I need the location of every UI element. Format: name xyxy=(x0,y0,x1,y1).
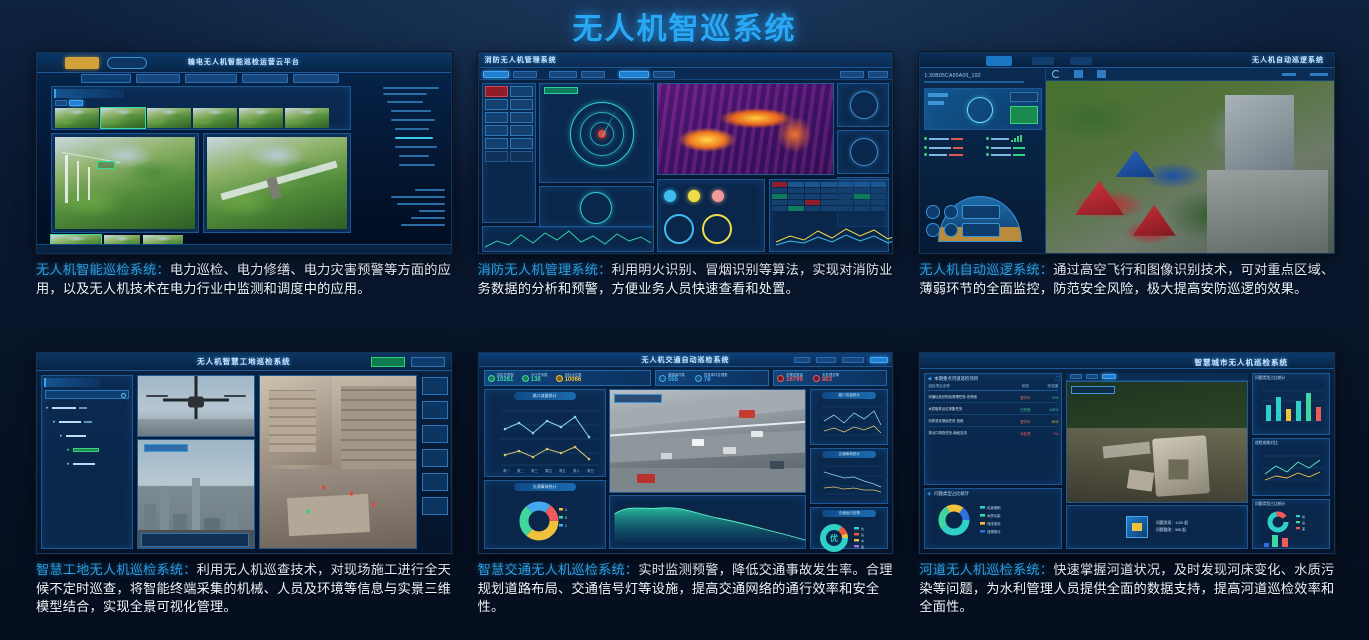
tree-item[interactable]: ▸ xyxy=(53,419,128,425)
tab-1[interactable] xyxy=(81,74,131,83)
kpi-label: 巡检总里程 xyxy=(497,373,514,377)
main-viewer-left[interactable] xyxy=(51,133,199,233)
accident-donut-chart: A B C xyxy=(517,495,573,547)
caption-river-patrol: 河道无人机巡检系统：快速掌握河道状况，及时发现河床变化、水质污染等问题，为水利管… xyxy=(919,561,1335,617)
svg-text:周一: 周一 xyxy=(503,468,510,473)
cell-progress: 45% xyxy=(1036,420,1058,424)
kpi-value: 78 xyxy=(704,377,728,384)
flow-chart-panel: 路口流量统计 周一周二周三 xyxy=(484,389,606,477)
alarm-table-panel[interactable] xyxy=(482,83,536,223)
kpi-label: 今日任务数 xyxy=(531,373,548,377)
cell-status: 进行中 xyxy=(1014,395,1036,400)
right-stats xyxy=(383,189,445,231)
alarm-cell[interactable] xyxy=(485,151,508,162)
expand-icon[interactable]: ⛶ xyxy=(1056,376,1060,382)
svg-text:良: 良 xyxy=(1302,520,1305,525)
layout-icon[interactable] xyxy=(1097,70,1106,78)
tree-list[interactable]: ▸ ▸ ▸ xyxy=(46,405,128,467)
kpi-value: 138 xyxy=(531,377,548,384)
svg-text:中: 中 xyxy=(861,538,864,543)
tool-button-layer[interactable] xyxy=(422,401,448,419)
alarm-cell[interactable] xyxy=(510,125,533,136)
nav-tab-active[interactable] xyxy=(870,357,888,363)
trend-chart xyxy=(774,224,894,248)
inspection-list-panel[interactable]: ◀ 本期重点河道巡检项目 ⛶ 巡检项目名称 状态 完成度 河道垃圾识别及清理任务… xyxy=(924,373,1062,485)
screenshot-smart-traffic[interactable]: 无人机交通自动巡检系统 xyxy=(478,352,894,554)
card-smart-traffic: 无人机交通自动巡检系统 xyxy=(478,352,894,640)
status-badge xyxy=(371,357,405,367)
caption-smart-site: 智慧工地无人机巡检系统：利用无人机巡查技术，对现场施工进行全天候不定时巡查，将智… xyxy=(36,561,452,617)
card-grid: 输电无人机智能巡检运营云平台 xyxy=(36,52,1335,640)
screenshot-river-patrol[interactable]: 智慧城市无人机巡检系统 ◀ 本期重点河道巡检项目 ⛶ 巡检项目名称 状态 完成度 xyxy=(919,352,1335,554)
grid-icon[interactable] xyxy=(1074,70,1083,78)
problem-type-donut-chart: 垃圾堆积 水质污染 河床变化 违规排污 xyxy=(928,500,1056,540)
alarm-cell[interactable] xyxy=(510,138,533,149)
right-panel-title: 巡检成效对比 xyxy=(1255,441,1327,446)
control-button-record[interactable] xyxy=(926,223,940,237)
chart-panel-title: 问题类型占比统计 xyxy=(934,491,969,497)
right-line-chart-2 xyxy=(813,460,885,502)
project-tree[interactable] xyxy=(383,87,445,173)
status-item xyxy=(924,153,980,156)
toolbar-button-list[interactable] xyxy=(1070,57,1092,65)
list-panel-title: 本期重点河道巡检项目 xyxy=(934,376,978,382)
control-button-hover[interactable] xyxy=(944,205,958,219)
thumbnail[interactable] xyxy=(193,108,237,128)
globe-status xyxy=(1010,106,1038,124)
tree-panel-title xyxy=(44,378,100,387)
speed-area-chart xyxy=(612,498,808,546)
tree-item[interactable]: ▸ xyxy=(46,405,128,411)
svg-text:周日: 周日 xyxy=(587,468,594,473)
chevron-right-icon[interactable]: ▸ xyxy=(60,433,63,439)
right-chart-panel-3: 交通运行态势 优 优 良 中 差 xyxy=(810,507,888,549)
alarm-cell[interactable] xyxy=(510,86,533,97)
donut-center-label: 优 xyxy=(830,533,838,543)
legend-swatch-fire xyxy=(664,190,676,202)
page-title: 无人机智巡系统 xyxy=(0,4,1369,48)
alarm-cell[interactable] xyxy=(510,151,533,162)
kpi-group-blue: 道路事件数 555 异常事件处理数 78 xyxy=(655,370,769,386)
tab-2[interactable] xyxy=(136,74,180,83)
status-item xyxy=(986,146,1042,149)
caption-lead: 消防无人机管理系统： xyxy=(478,262,612,277)
cell-progress: 0% xyxy=(1036,432,1058,436)
panel-title-defect xyxy=(54,89,124,98)
construction-site-view[interactable] xyxy=(259,375,417,549)
tool-button-measure[interactable] xyxy=(422,377,448,395)
svg-text:周三: 周三 xyxy=(531,468,538,473)
alarm-cell[interactable] xyxy=(510,112,533,123)
cell-status: 进行中 xyxy=(1014,419,1036,424)
svg-text:违规排污: 违规排污 xyxy=(987,529,1001,534)
header-nav[interactable] xyxy=(794,357,888,363)
caption-lead: 无人机智能巡检系统： xyxy=(36,262,170,277)
bottom-data-table[interactable] xyxy=(769,179,890,252)
legend-swatch-temp xyxy=(712,190,724,202)
card-auto-patrol: 无人机自动巡逻系统 1:30B05CA00A00_192 xyxy=(919,52,1335,352)
control-button-cruise[interactable] xyxy=(962,205,1000,219)
dashboard-title: 无人机智慧工地巡检系统 xyxy=(197,356,291,367)
thumbnail[interactable] xyxy=(55,108,99,128)
globe-badge xyxy=(1010,92,1038,102)
caption-auto-patrol: 无人机自动巡逻系统：通过高空飞行和图像识别技术，可对重点区域、薄弱环节的全面监控… xyxy=(919,261,1335,298)
toolbar-button-map[interactable] xyxy=(1032,57,1054,65)
kpi-value: 10261 xyxy=(497,377,514,384)
kpi-card: 巡检点位数 10066 xyxy=(556,373,582,384)
settings-icon[interactable] xyxy=(1282,73,1296,76)
flow-line-chart: 周一周二周三 周四周五周六周日 xyxy=(487,403,603,475)
kpi-value: 16799 xyxy=(786,377,803,384)
hex-tab-task[interactable] xyxy=(107,57,147,69)
nav-tab-alarm[interactable] xyxy=(619,71,649,78)
nav-tab[interactable] xyxy=(794,357,810,363)
status-bar xyxy=(37,244,451,253)
tab-4[interactable] xyxy=(242,74,288,83)
caption-lead: 河道无人机巡检系统： xyxy=(919,562,1053,577)
right-panel-top: 问题类型占比统计 xyxy=(1252,373,1330,435)
kpi-icon xyxy=(488,375,495,382)
caption-lead: 无人机自动巡逻系统： xyxy=(919,262,1053,277)
kpi-label: 异常事件处理数 xyxy=(704,373,728,377)
kpi-value: 803 xyxy=(822,377,839,384)
nav-tab-stats[interactable] xyxy=(653,71,675,78)
kpi-icon xyxy=(556,375,563,382)
cell-name: 水质取样点位采集任务 xyxy=(928,407,1014,412)
nav-bar[interactable] xyxy=(479,69,893,80)
tab-strip[interactable] xyxy=(81,74,447,84)
card-river-patrol: 智慧城市无人机巡检系统 ◀ 本期重点河道巡检项目 ⛶ 巡检项目名称 状态 完成度 xyxy=(919,352,1335,640)
traffic-video-view[interactable] xyxy=(609,389,807,493)
accident-pie-panel: 交通事故统计 A B C xyxy=(484,480,606,549)
chevron-right-icon[interactable]: ▸ xyxy=(67,447,70,453)
view-label-badge xyxy=(144,444,188,452)
chevron-right-icon[interactable]: ▸ xyxy=(46,405,49,411)
filter-all[interactable] xyxy=(55,100,67,106)
kpi-icon xyxy=(813,375,820,382)
svg-text:优: 优 xyxy=(861,526,864,531)
caption-smart-traffic: 智慧交通无人机巡检系统：实时监测预警，降低交通事故发生率。合理规划道路布局、交通… xyxy=(478,561,894,617)
cell-name: 河床变化测绘任务-西段 xyxy=(928,419,1014,424)
kpi-icon xyxy=(522,375,529,382)
tree-search-input[interactable] xyxy=(45,390,129,399)
river-video-view[interactable] xyxy=(1066,381,1248,503)
status-dot-icon xyxy=(924,137,927,140)
cell-progress: 72% xyxy=(1036,396,1058,400)
alarm-cell[interactable] xyxy=(485,138,508,149)
right-panel-title: 问题类型占比统计 xyxy=(1255,502,1327,507)
comparison-panel: 问题发现：1120 起 问题整改：986 起 xyxy=(1066,505,1248,549)
chevron-right-icon[interactable]: ▸ xyxy=(53,419,56,425)
svg-text:优: 优 xyxy=(1302,514,1305,519)
thumbnail[interactable] xyxy=(285,108,329,128)
alarm-cell[interactable] xyxy=(485,99,508,110)
kpi-icon xyxy=(777,375,784,382)
list-header-row: 巡检项目名称 状态 完成度 xyxy=(928,384,1058,391)
right-bar-chart xyxy=(1254,383,1326,429)
waveform-chart xyxy=(483,227,653,251)
svg-text:差: 差 xyxy=(1302,526,1305,531)
screenshot-fire-control[interactable]: 消防无人机管理系统 xyxy=(478,52,894,254)
right-panel-bottom: 问题类型占比统计 优 良 差 xyxy=(1252,499,1330,549)
tree-item[interactable]: ▸ xyxy=(67,461,128,467)
status-dot-icon xyxy=(986,137,989,140)
svg-text:水质污染: 水质污染 xyxy=(987,513,1001,518)
svg-text:河床变化: 河床变化 xyxy=(987,521,1001,526)
caption-fire-control: 消防无人机管理系统：利用明火识别、冒烟识别等算法，实现对消防业务数据的分析和预警… xyxy=(478,261,894,298)
cell-progress: 100% xyxy=(1036,408,1058,412)
legend-swatch-smoke xyxy=(688,190,700,202)
right-panel-mid: 巡检成效对比 xyxy=(1252,438,1330,496)
cell-name: 河道垃圾识别及清理任务-东岸段 xyxy=(928,395,1014,400)
nav-tab-smoke[interactable] xyxy=(581,71,605,78)
svg-text:良: 良 xyxy=(861,532,864,537)
nav-tab-user[interactable] xyxy=(868,71,888,78)
legend-row xyxy=(664,190,724,202)
tool-button-compare[interactable] xyxy=(422,449,448,467)
panel-title: 路口流量统计 xyxy=(822,392,876,399)
building xyxy=(1207,170,1328,253)
thumbnail[interactable] xyxy=(147,108,191,128)
nav-tab-report[interactable] xyxy=(840,71,864,78)
nav-tab-overview[interactable] xyxy=(483,71,509,78)
panel-title: 路口流量统计 xyxy=(514,392,576,400)
status-dot-icon xyxy=(986,153,989,156)
filter-selected[interactable] xyxy=(69,100,83,106)
radar-panel[interactable] xyxy=(539,83,654,183)
waveform-panel xyxy=(482,226,654,252)
nav-tab[interactable] xyxy=(816,357,836,363)
card-smart-site: 无人机智慧工地巡检系统 ▸ xyxy=(36,352,452,640)
kpi-value: 10066 xyxy=(565,377,582,384)
table-row[interactable]: 河道垃圾识别及清理任务-东岸段 进行中 72% xyxy=(928,393,1058,403)
bottom-stat: 问题发现：1120 起 xyxy=(1156,520,1188,527)
svg-text:A: A xyxy=(565,508,568,512)
dashboard-title: 智慧城市无人机巡检系统 xyxy=(1194,357,1288,368)
nav-tab-flight[interactable] xyxy=(513,71,537,78)
panel-title: 交通运行态势 xyxy=(822,510,876,517)
control-button-photo[interactable] xyxy=(944,223,958,237)
table-row[interactable]: 水质取样点位采集任务 已完成 100% xyxy=(928,405,1058,415)
dashboard-title: 无人机交通自动巡检系统 xyxy=(641,355,729,365)
right-mixed-chart: 优 良 差 xyxy=(1254,509,1326,549)
report-icon xyxy=(1126,516,1148,538)
tent-blue xyxy=(1115,150,1155,178)
video-overlay-label xyxy=(1071,386,1115,394)
tool-button-fullscreen[interactable] xyxy=(422,497,448,515)
signal-chart-panel[interactable] xyxy=(539,186,654,228)
info-readout xyxy=(141,533,249,547)
alarm-cell[interactable] xyxy=(510,99,533,110)
defect-gallery-panel xyxy=(51,86,351,130)
tab-3[interactable] xyxy=(185,74,237,83)
building xyxy=(1225,95,1294,171)
column-header: 巡检项目名称 xyxy=(928,384,1014,389)
kpi-card: 异常事件处理数 78 xyxy=(695,373,728,384)
status-item xyxy=(924,146,980,149)
alarm-cell[interactable] xyxy=(485,86,508,97)
control-button-land[interactable] xyxy=(962,223,1000,237)
right-panel-title: 问题类型占比统计 xyxy=(1255,376,1327,381)
speed-area-panel xyxy=(609,495,807,549)
caption-lead: 智慧工地无人机巡检系统： xyxy=(36,562,197,577)
status-grid xyxy=(924,135,1041,156)
cell-status: 待处理 xyxy=(1014,431,1036,436)
caption-power-inspection: 无人机智能巡检系统：电力巡检、电力修缮、电力灾害预警等方面的应用，以及无人机技术… xyxy=(36,261,452,298)
tree-item[interactable]: ▸ xyxy=(60,433,128,439)
svg-text:周四: 周四 xyxy=(545,468,552,473)
tent-red xyxy=(1075,181,1124,215)
dashboard-title: 输电无人机智能巡检运营云平台 xyxy=(188,57,300,67)
hex-tab-home[interactable] xyxy=(65,57,99,69)
filter-row[interactable] xyxy=(55,100,83,106)
column-header: 完成度 xyxy=(1036,384,1058,389)
tool-button-mark[interactable] xyxy=(422,425,448,443)
right-line-chart xyxy=(1254,448,1326,492)
toolbar-btn-active[interactable] xyxy=(1102,374,1116,379)
dashboard-title: 消防无人机管理系统 xyxy=(485,55,557,65)
detect-box xyxy=(97,161,115,169)
dashboard-title: 无人机自动巡逻系统 xyxy=(1252,55,1324,65)
svg-text:周六: 周六 xyxy=(573,468,580,473)
right-chart-panel-2: 交通事故统计 xyxy=(810,448,888,504)
screenshot-auto-patrol[interactable]: 无人机自动巡逻系统 1:30B05CA00A00_192 xyxy=(919,52,1335,254)
kpi-group-green: 巡检总里程 10261 今日任务数 138 xyxy=(484,370,651,386)
right-line-chart-1 xyxy=(813,401,885,443)
cell-status: 已完成 xyxy=(1014,407,1036,412)
kpi-label: 道路事件数 xyxy=(668,373,685,377)
kpi-card: 巡检总里程 10261 xyxy=(488,373,514,384)
toolbar-btn[interactable] xyxy=(1070,374,1082,379)
status-dot-icon xyxy=(986,146,989,149)
control-button-column[interactable] xyxy=(926,205,1000,237)
table-row[interactable]: 河床变化测绘任务-西段 进行中 45% xyxy=(928,417,1058,427)
gauge-panel-2 xyxy=(837,130,889,174)
right-chart-panel-1: 路口流量统计 xyxy=(810,389,888,445)
radar-badge xyxy=(544,87,578,94)
signal-bars-icon xyxy=(1011,135,1023,142)
fullscreen-icon[interactable] xyxy=(1310,73,1328,76)
kpi-row: 巡检总里程 10261 今日任务数 138 xyxy=(484,370,888,386)
chevron-right-icon[interactable]: ▸ xyxy=(67,461,70,467)
caption-lead: 智慧交通无人机巡检系统： xyxy=(478,562,639,577)
device-code: 1:30B05CA00A00_192 xyxy=(924,73,1041,79)
toolbar-btn[interactable] xyxy=(1086,374,1098,379)
thumbnail-strip[interactable] xyxy=(55,108,329,128)
kpi-icon xyxy=(695,375,702,382)
status-item xyxy=(986,153,1042,156)
nav-tab[interactable] xyxy=(842,357,864,363)
kpi-label: 告警总数量 xyxy=(786,373,803,377)
card-power-inspection: 输电无人机智能巡检运营云平台 xyxy=(36,52,452,352)
tool-rail[interactable] xyxy=(422,377,448,515)
alarm-cell[interactable] xyxy=(485,112,508,123)
tool-button-export[interactable] xyxy=(422,473,448,491)
screenshot-smart-site[interactable]: 无人机智慧工地巡检系统 ▸ xyxy=(36,352,452,554)
status-dot-icon xyxy=(924,153,927,156)
kpi-card: 告警总数量 16799 xyxy=(777,373,803,384)
thumbnail[interactable] xyxy=(239,108,283,128)
video-toolbar[interactable] xyxy=(1046,68,1334,81)
problem-type-panel: ◈ 问题类型占比统计 垃圾堆积 水质污染 河床变化 xyxy=(924,488,1062,549)
kpi-group-red: 告警总数量 16799 未处理告警 803 xyxy=(773,370,887,386)
panel-title: 交通事故统计 xyxy=(514,483,576,491)
card-fire-control: 消防无人机管理系统 xyxy=(478,52,894,352)
main-viewer-right[interactable] xyxy=(203,133,351,233)
kpi-icon xyxy=(659,375,666,382)
panel-title: 交通事故统计 xyxy=(822,451,876,458)
nav-tab-fire[interactable] xyxy=(549,71,577,78)
globe-card xyxy=(924,88,1042,130)
telemetry-sidebar[interactable]: 1:30B05CA00A00_192 xyxy=(920,68,1046,253)
video-overlay-label xyxy=(614,394,662,403)
svg-text:周五: 周五 xyxy=(559,468,566,473)
project-tree-panel[interactable]: ▸ ▸ ▸ xyxy=(41,375,133,549)
poster-root: 无人机智巡系统 输电无人机智能巡检运营云平台 xyxy=(0,0,1369,640)
debris xyxy=(1127,469,1155,491)
cell-name: 排污口排查任务-南段支流 xyxy=(928,431,1014,436)
tab-5[interactable] xyxy=(293,74,339,83)
user-badge[interactable] xyxy=(411,357,445,367)
debris-box xyxy=(1168,459,1190,481)
table-row[interactable]: 排污口排查任务-南段支流 待处理 0% xyxy=(928,429,1058,438)
kpi-card: 今日任务数 138 xyxy=(522,373,548,384)
video-toolbar[interactable] xyxy=(1066,373,1248,381)
kpi-label: 未处理告警 xyxy=(822,373,839,377)
condition-donut-chart: 优 优 良 中 差 xyxy=(812,519,884,554)
column-header: 状态 xyxy=(1014,384,1036,389)
live-video-view[interactable] xyxy=(1046,81,1334,253)
status-dot-icon xyxy=(924,146,927,149)
refresh-icon[interactable] xyxy=(1052,70,1060,78)
kpi-label: 巡检点位数 xyxy=(565,373,582,377)
legend-panel xyxy=(657,179,765,252)
tree-item-selected[interactable]: ▸ xyxy=(67,447,128,453)
svg-text:B: B xyxy=(565,516,567,520)
tent-red xyxy=(1133,205,1176,236)
kpi-card: 道路事件数 555 xyxy=(659,373,685,384)
collapse-icon[interactable]: ◀ xyxy=(927,376,931,382)
drone-view-1[interactable] xyxy=(137,375,255,437)
thermal-view[interactable] xyxy=(657,83,835,175)
bottom-stat: 问题整改：986 起 xyxy=(1156,527,1188,534)
chart-icon: ◈ xyxy=(927,491,931,497)
thumbnail-active[interactable] xyxy=(101,108,145,128)
kpi-value: 555 xyxy=(668,377,685,384)
toolbar-button-home[interactable] xyxy=(986,56,1012,66)
svg-text:垃圾堆积: 垃圾堆积 xyxy=(987,505,1001,510)
svg-text:差: 差 xyxy=(861,544,864,549)
status-item xyxy=(986,135,1042,142)
kpi-card: 未处理告警 803 xyxy=(813,373,839,384)
svg-text:C: C xyxy=(565,524,568,528)
status-item xyxy=(924,135,980,142)
search-icon xyxy=(121,393,126,398)
alarm-cell[interactable] xyxy=(485,125,508,136)
svg-text:周二: 周二 xyxy=(517,468,524,473)
control-button-return[interactable] xyxy=(926,205,940,219)
screenshot-power-inspection[interactable]: 输电无人机智能巡检运营云平台 xyxy=(36,52,452,254)
gauge-panel-1 xyxy=(837,83,889,127)
